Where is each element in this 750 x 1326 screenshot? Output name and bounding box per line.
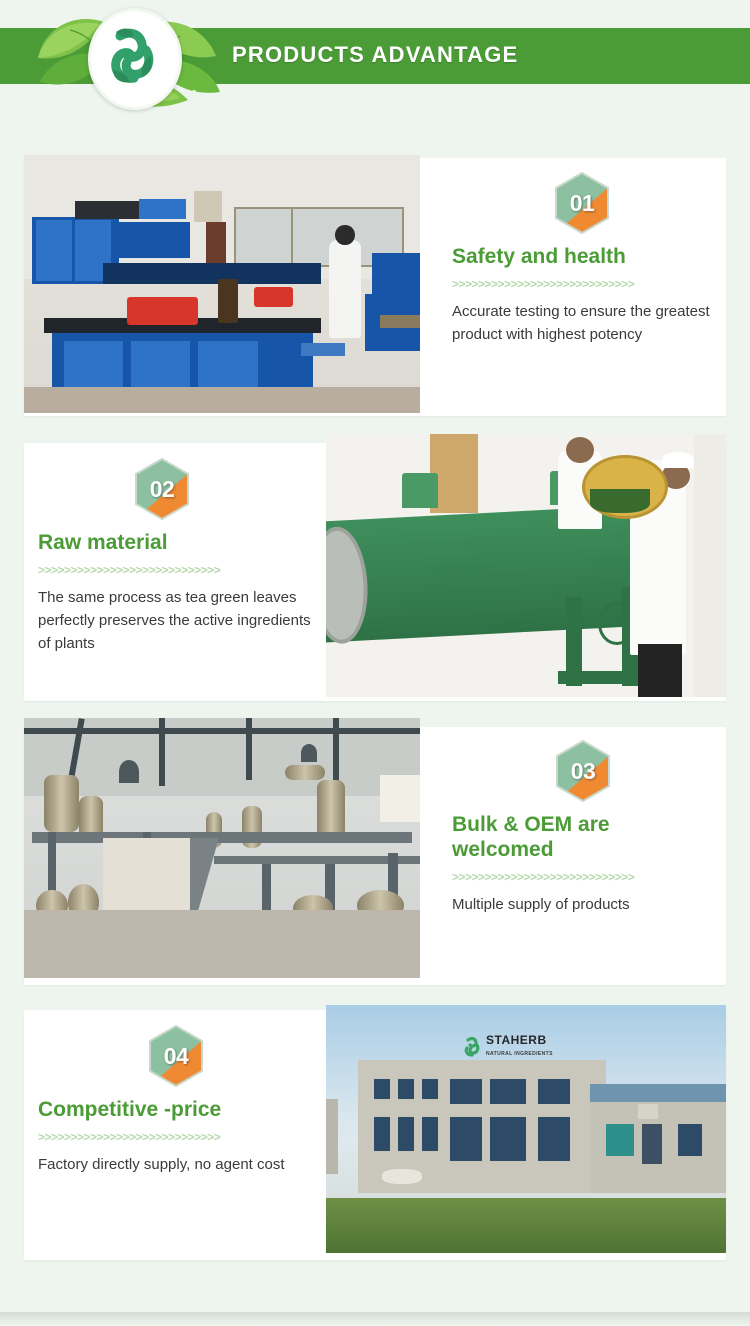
advantage-text-01: 01 Safety and health >>>>>>>>>>>>>>>>>>>… <box>452 172 712 346</box>
advantage-text-02: 02 Raw material >>>>>>>>>>>>>>>>>>>>>>>>… <box>38 458 323 655</box>
page-bottom-shadow <box>0 1312 750 1326</box>
page-title: PRODUCTS ADVANTAGE <box>232 42 518 68</box>
laboratory-testing-photo <box>24 155 420 413</box>
badge-number: 04 <box>148 1025 204 1087</box>
brand-logo <box>30 0 230 112</box>
tea-roasting-machine-photo <box>326 434 726 697</box>
triskelion-leaf-icon <box>96 16 168 96</box>
chevron-divider: >>>>>>>>>>>>>>>>>>>>>>>>>>>> <box>38 1130 318 1144</box>
advantage-title: Bulk & OEM are welcomed <box>452 812 714 862</box>
staherb-roof-logo-icon <box>462 1035 482 1057</box>
extraction-workshop-photo <box>24 718 420 978</box>
advantage-description: Multiple supply of products <box>452 893 714 916</box>
badge-number: 03 <box>555 740 611 802</box>
advantage-title: Competitive -price <box>38 1097 318 1122</box>
factory-building-photo: STAHERB NATURAL INGREDIENTS <box>326 1005 726 1253</box>
advantage-description: Factory directly supply, no agent cost <box>38 1153 318 1176</box>
chevron-divider: >>>>>>>>>>>>>>>>>>>>>>>>>>>> <box>38 563 323 577</box>
number-badge-01: 01 <box>554 172 610 234</box>
products-advantage-page: PRODUCTS ADVANTAGE <box>0 0 750 1326</box>
chevron-divider: >>>>>>>>>>>>>>>>>>>>>>>>>>>> <box>452 277 712 291</box>
badge-number: 01 <box>554 172 610 234</box>
advantage-text-03: 03 Bulk & OEM are welcomed >>>>>>>>>>>>>… <box>452 740 714 916</box>
building-sign: STAHERB NATURAL INGREDIENTS <box>486 1035 553 1060</box>
advantage-title: Raw material <box>38 530 323 555</box>
number-badge-04: 04 <box>148 1025 204 1087</box>
number-badge-03: 03 <box>555 740 611 802</box>
sign-tagline: NATURAL INGREDIENTS <box>486 1051 553 1057</box>
advantage-description: The same process as tea green leaves per… <box>38 586 323 655</box>
sign-brand: STAHERB <box>486 1033 547 1047</box>
advantage-text-04: 04 Competitive -price >>>>>>>>>>>>>>>>>>… <box>38 1025 318 1176</box>
advantage-title: Safety and health <box>452 244 712 269</box>
chevron-divider: >>>>>>>>>>>>>>>>>>>>>>>>>>>> <box>452 870 714 884</box>
badge-number: 02 <box>134 458 190 520</box>
number-badge-02: 02 <box>134 458 190 520</box>
advantage-description: Accurate testing to ensure the greatest … <box>452 300 712 346</box>
